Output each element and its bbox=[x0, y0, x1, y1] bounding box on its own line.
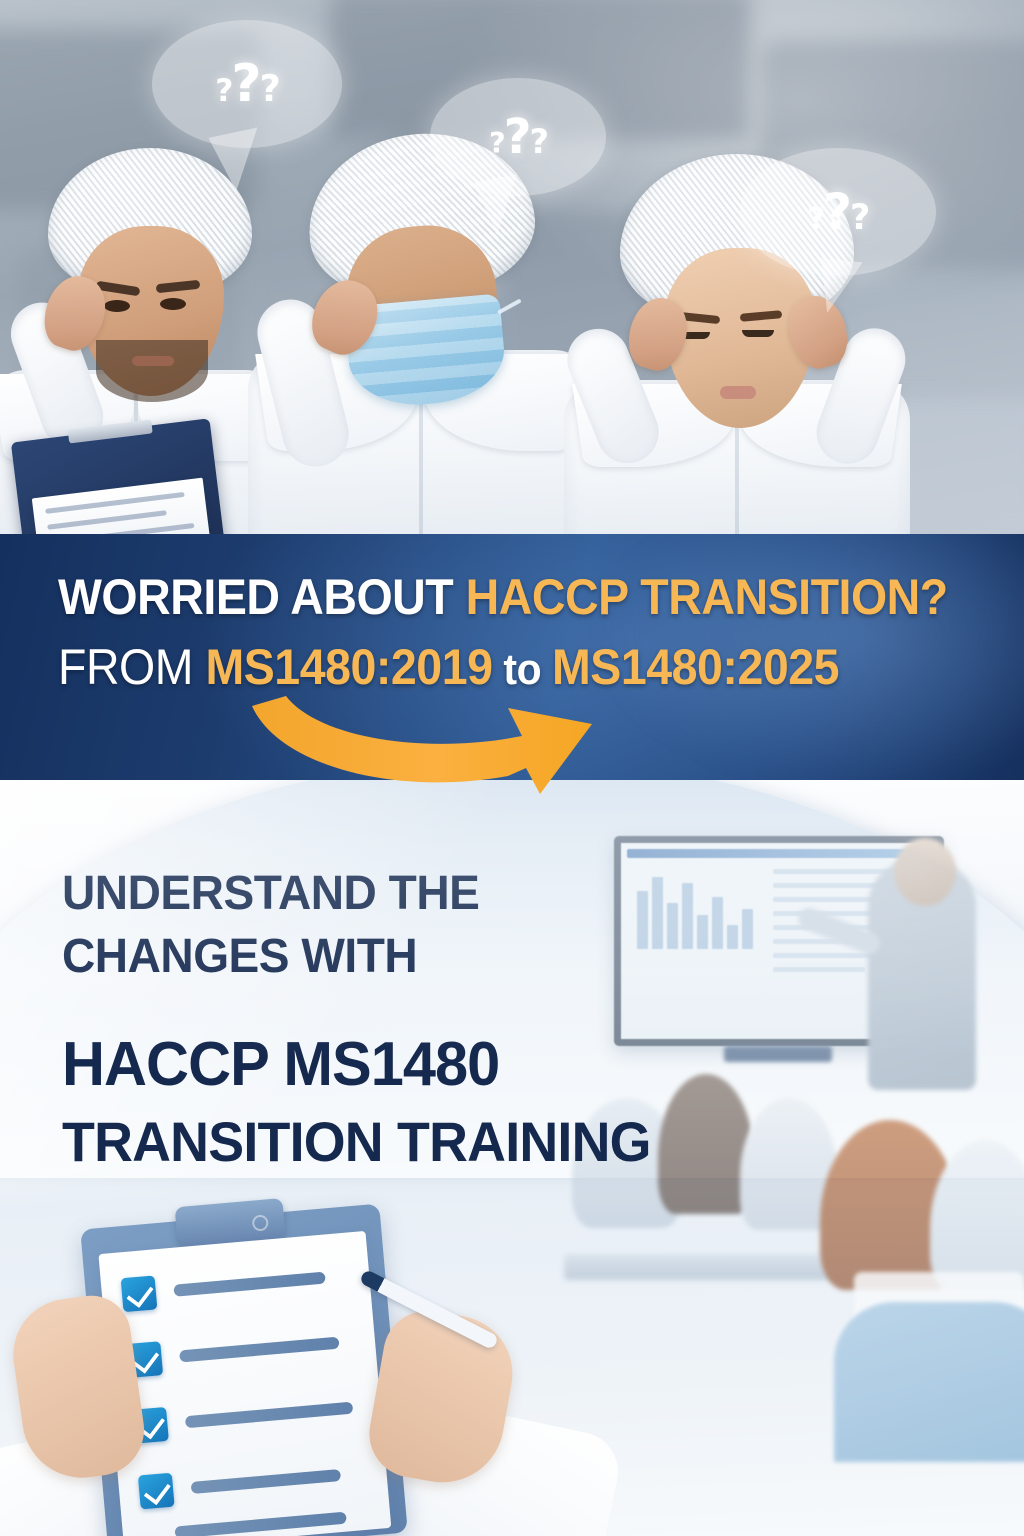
bubble-tail bbox=[815, 258, 862, 316]
bottom-scene-training: UNDERSTAND THE CHANGES WITH HACCP MS1480… bbox=[0, 740, 1024, 1536]
checklist-item[interactable] bbox=[132, 1391, 354, 1444]
screen-stand bbox=[724, 1046, 832, 1062]
curved-arrow-right-icon bbox=[240, 690, 700, 800]
banner-new-standard: MS1480:2025 bbox=[552, 639, 839, 695]
checklist-item[interactable] bbox=[121, 1261, 327, 1313]
banner-text-block: WORRIED ABOUT HACCP TRANSITION? FROM MS1… bbox=[58, 570, 988, 694]
beard bbox=[96, 340, 208, 402]
checkbox-checked-icon[interactable] bbox=[121, 1275, 158, 1312]
eye-right bbox=[742, 330, 774, 337]
headline-line-1: UNDERSTAND THE bbox=[62, 862, 657, 925]
question-bubble-3: ??? bbox=[740, 148, 936, 276]
bubble-tail bbox=[209, 127, 270, 194]
checklist-line bbox=[174, 1512, 346, 1536]
haccp-transition-poster: ??? ??? ??? bbox=[0, 0, 1024, 1536]
banner-line-2: FROM MS1480:2019 to MS1480:2025 bbox=[58, 640, 923, 694]
question-marks: ??? bbox=[489, 113, 547, 161]
checklist-line bbox=[173, 1272, 325, 1297]
headline-block: UNDERSTAND THE CHANGES WITH HACCP MS1480… bbox=[62, 862, 682, 1177]
student-blue-shirt bbox=[834, 1302, 1024, 1462]
checklist-item[interactable] bbox=[138, 1458, 342, 1509]
checkbox-checked-icon[interactable] bbox=[138, 1473, 175, 1510]
checklist-line bbox=[185, 1402, 353, 1429]
transition-arrow bbox=[240, 690, 700, 800]
headline-line-3: HACCP MS1480 bbox=[62, 1027, 657, 1103]
headline-line-4: TRANSITION TRAINING bbox=[62, 1108, 657, 1176]
banner-connector: to bbox=[493, 645, 553, 694]
question-marks: ??? bbox=[215, 58, 278, 110]
question-marks: ??? bbox=[808, 187, 869, 237]
checklist-paper bbox=[98, 1231, 391, 1536]
eye-left bbox=[104, 300, 130, 312]
lips bbox=[720, 386, 756, 399]
presenter-head bbox=[894, 838, 956, 906]
question-bubble-1: ??? bbox=[152, 20, 342, 148]
screen-toolbar bbox=[627, 849, 931, 858]
question-bubble-2: ??? bbox=[430, 78, 606, 196]
checklist-line bbox=[191, 1469, 341, 1494]
checklist-line bbox=[179, 1337, 339, 1363]
checklist-item[interactable] bbox=[126, 1326, 340, 1378]
paper-line bbox=[47, 510, 167, 530]
bubble-tail bbox=[473, 175, 526, 238]
banner-worried-text: WORRIED ABOUT bbox=[58, 569, 466, 625]
eye-right bbox=[160, 298, 186, 310]
mouth bbox=[132, 356, 174, 366]
worker-masked-man bbox=[252, 130, 592, 560]
banner-haccp-transition-text: HACCP TRANSITION? bbox=[466, 569, 948, 625]
banner-from-label: FROM bbox=[58, 639, 205, 695]
banner-old-standard: MS1480:2019 bbox=[205, 639, 492, 695]
headline-line-2: CHANGES WITH bbox=[62, 925, 657, 988]
top-scene-factory: ??? ??? ??? bbox=[0, 0, 1024, 560]
checklist-illustration bbox=[70, 1210, 500, 1536]
banner-line-1: WORRIED ABOUT HACCP TRANSITION? bbox=[58, 570, 923, 624]
